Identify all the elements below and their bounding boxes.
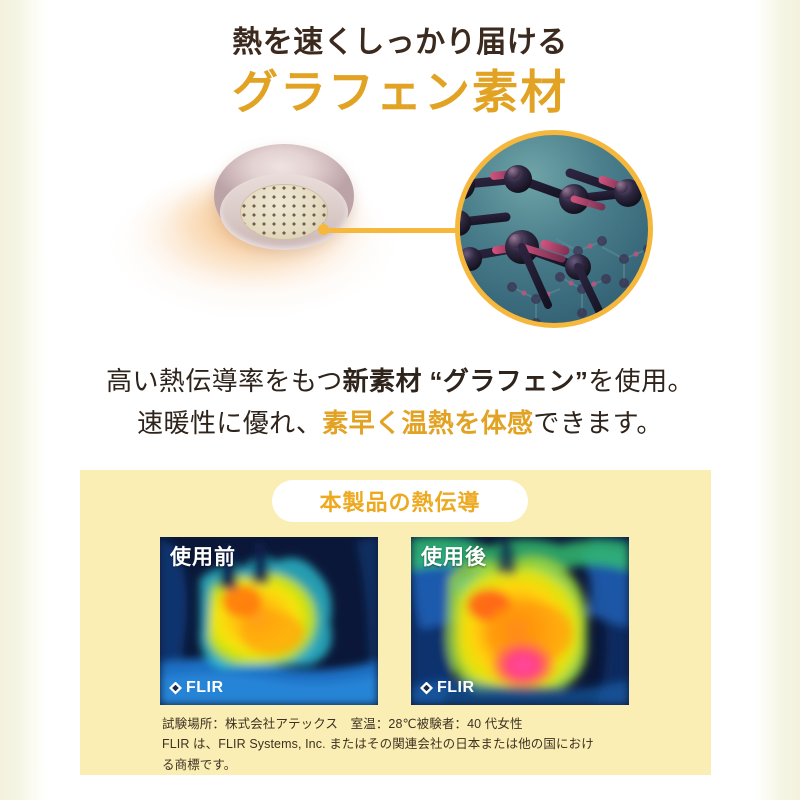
thermal-image-after: 使用後 FLIR [411, 537, 629, 705]
thermal-image-before: 使用前 FLIR [160, 537, 378, 705]
headline-title: グラフェン素材 [0, 64, 800, 122]
hero-illustration [0, 126, 800, 356]
desc-l1-post: を使用。 [588, 366, 694, 396]
panel-badge: 本製品の熱伝導 [272, 480, 528, 522]
thermal-images-row: 使用前 FLIR [160, 537, 629, 705]
footnote-line-1: 試験場所：株式会社アテックス 室温：28℃被験者：40 代女性 [162, 714, 650, 734]
graphene-pattern-texture [241, 185, 327, 239]
headline-block: 熱を速くしっかり届ける グラフェン素材 [0, 24, 800, 121]
description-line-1: 高い熱伝導率をもつ新素材 “グラフェン”を使用。 [0, 360, 800, 402]
flir-diamond-icon [169, 682, 182, 695]
desc-l2-highlight: 素早く温熱を体感 [322, 408, 533, 438]
thermal-comparison-panel: 本製品の熱伝導 [80, 470, 711, 775]
thermal-caption-after: 使用後 [421, 541, 487, 571]
graphene-lattice-closeup [455, 130, 653, 328]
device-graphene-pad [240, 184, 328, 240]
desc-l1-pre: 高い熱伝導率をもつ [106, 366, 343, 396]
desc-l1-bold: 新素材 “グラフェン” [343, 366, 589, 396]
flir-logo-after: FLIR [420, 679, 475, 697]
graphene-heating-device [214, 144, 354, 256]
footnote-line-3: る商標です。 [162, 755, 650, 775]
flir-diamond-icon [420, 682, 433, 695]
panel-badge-label: 本製品の熱伝導 [319, 485, 480, 517]
panel-footnote: 試験場所：株式会社アテックス 室温：28℃被験者：40 代女性 FLIR は、F… [162, 714, 650, 775]
description-line-2: 速暖性に優れ、素早く温熱を体感できます。 [0, 402, 800, 444]
footnote-line-2: FLIR は、FLIR Systems, Inc. またはその関連会社の日本また… [162, 734, 650, 754]
desc-l2-post: できます。 [533, 408, 662, 438]
callout-line [324, 228, 464, 233]
thermal-caption-before: 使用前 [170, 541, 236, 571]
description-block: 高い熱伝導率をもつ新素材 “グラフェン”を使用。 速暖性に優れ、素早く温熱を体感… [0, 360, 800, 444]
desc-l2-pre: 速暖性に優れ、 [137, 408, 322, 438]
headline-subtitle: 熱を速くしっかり届ける [0, 24, 800, 62]
lattice-svg [455, 130, 653, 328]
flir-wordmark: FLIR [186, 679, 224, 697]
flir-wordmark: FLIR [437, 679, 475, 697]
flir-logo-before: FLIR [169, 679, 224, 697]
